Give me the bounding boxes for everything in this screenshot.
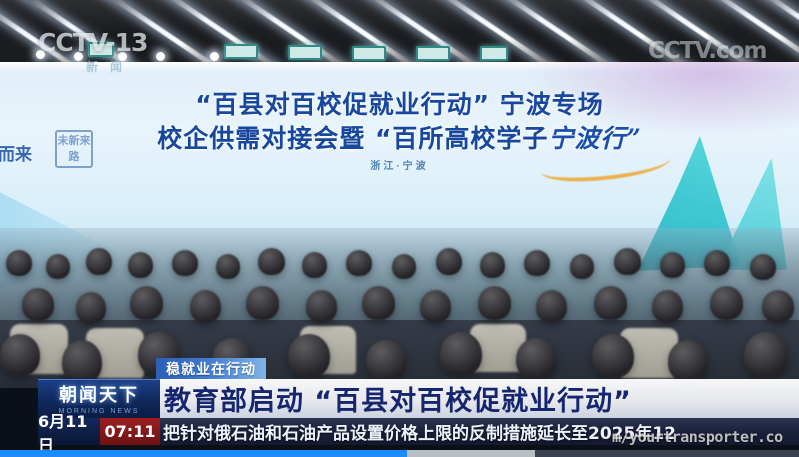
stage-title-line1: “百县对百校促就业行动” 宁波专场 (0, 92, 799, 117)
audience-head (366, 340, 406, 382)
audience-head (440, 332, 482, 376)
audience-head (652, 290, 683, 323)
audience-head (750, 254, 776, 280)
stage-title-line2-prefix: 校企供需对接会暨 “百所高校学子 (157, 124, 548, 153)
audience-head (392, 254, 416, 279)
audience-head (86, 248, 112, 275)
progress-played (0, 450, 407, 457)
topic-tag: 稳就业在行动 (156, 358, 266, 380)
audience-head (0, 334, 40, 376)
audience-head (524, 250, 550, 276)
audience-head (172, 250, 198, 276)
news-ticker-text: 把针对俄石油和石油产品设置价格上限的反制措施延长至2025年12 (160, 419, 676, 444)
stage-title-block: “百县对百校促就业行动” 宁波专场 校企供需对接会暨 “百所高校学子宁波行” 浙… (0, 92, 799, 172)
audience-crowd (0, 228, 799, 388)
audience-head (710, 286, 743, 320)
video-progress-bar[interactable] (0, 450, 799, 457)
broadcast-time: 07:11 (100, 418, 160, 445)
audience-head (660, 252, 685, 278)
audience-head (744, 332, 788, 378)
audience-head (22, 288, 54, 321)
audience-head (46, 254, 70, 279)
audience-head (614, 248, 641, 275)
audience-head (216, 254, 240, 279)
ceiling-panel (416, 46, 450, 61)
ceiling-panel (224, 44, 258, 59)
headline-banner: 教育部启动 “百县对百校促就业行动” (160, 379, 799, 418)
audience-head (436, 248, 462, 275)
audience-head (302, 252, 327, 278)
audience-head (346, 250, 372, 276)
channel-bug-name: CCTV-13 (38, 30, 170, 55)
audience-head (478, 286, 511, 320)
audience-head (362, 286, 395, 320)
audience-head (592, 334, 634, 378)
topic-tag-label: 稳就业在行动 (166, 359, 256, 379)
cctv-com-watermark: CCTV.com (648, 38, 766, 64)
audience-head (128, 252, 153, 278)
stage-left-partial-text: 而来 (0, 140, 32, 165)
channel-bug-subtitle: 新闻 (38, 58, 170, 75)
ceiling-panel (352, 46, 386, 61)
audience-head (516, 338, 556, 380)
audience-head (420, 290, 451, 323)
audience-head (130, 286, 163, 320)
site-watermark: m/yourtransporter.co (612, 428, 783, 446)
video-picture[interactable]: “百县对百校促就业行动” 宁波专场 校企供需对接会暨 “百所高校学子宁波行” 浙… (0, 0, 799, 457)
ceiling-panel (288, 45, 322, 60)
audience-head (668, 340, 708, 382)
audience-head (246, 286, 279, 320)
stage-seal-logo: 未新来路 (55, 130, 93, 168)
audience-head (62, 340, 102, 384)
audience-head (288, 334, 330, 378)
stage-subtitle: 浙江·宁波 (0, 162, 799, 172)
audience-head (306, 290, 337, 323)
broadcast-date: 6月11日 (38, 418, 100, 445)
audience-head (190, 290, 221, 323)
channel-bug: CCTV-13 新闻 (38, 30, 170, 76)
headline-text: 教育部启动 “百县对百校促就业行动” (160, 379, 632, 418)
program-name: 朝闻天下 (38, 381, 160, 407)
date-time-box: 6月11日 07:11 (38, 418, 160, 445)
audience-head (480, 252, 505, 278)
audience-head (6, 250, 32, 276)
video-player-frame: “百县对百校促就业行动” 宁波专场 校企供需对接会暨 “百所高校学子宁波行” 浙… (0, 0, 799, 457)
ceiling-panel (480, 46, 508, 61)
audience-head (536, 290, 567, 323)
audience-head (570, 254, 594, 279)
audience-head (258, 248, 285, 275)
audience-head (594, 286, 627, 320)
audience-head (76, 292, 106, 324)
audience-head (704, 250, 730, 276)
stage-title-line2: 校企供需对接会暨 “百所高校学子宁波行” (0, 126, 799, 151)
audience-head (762, 290, 794, 323)
